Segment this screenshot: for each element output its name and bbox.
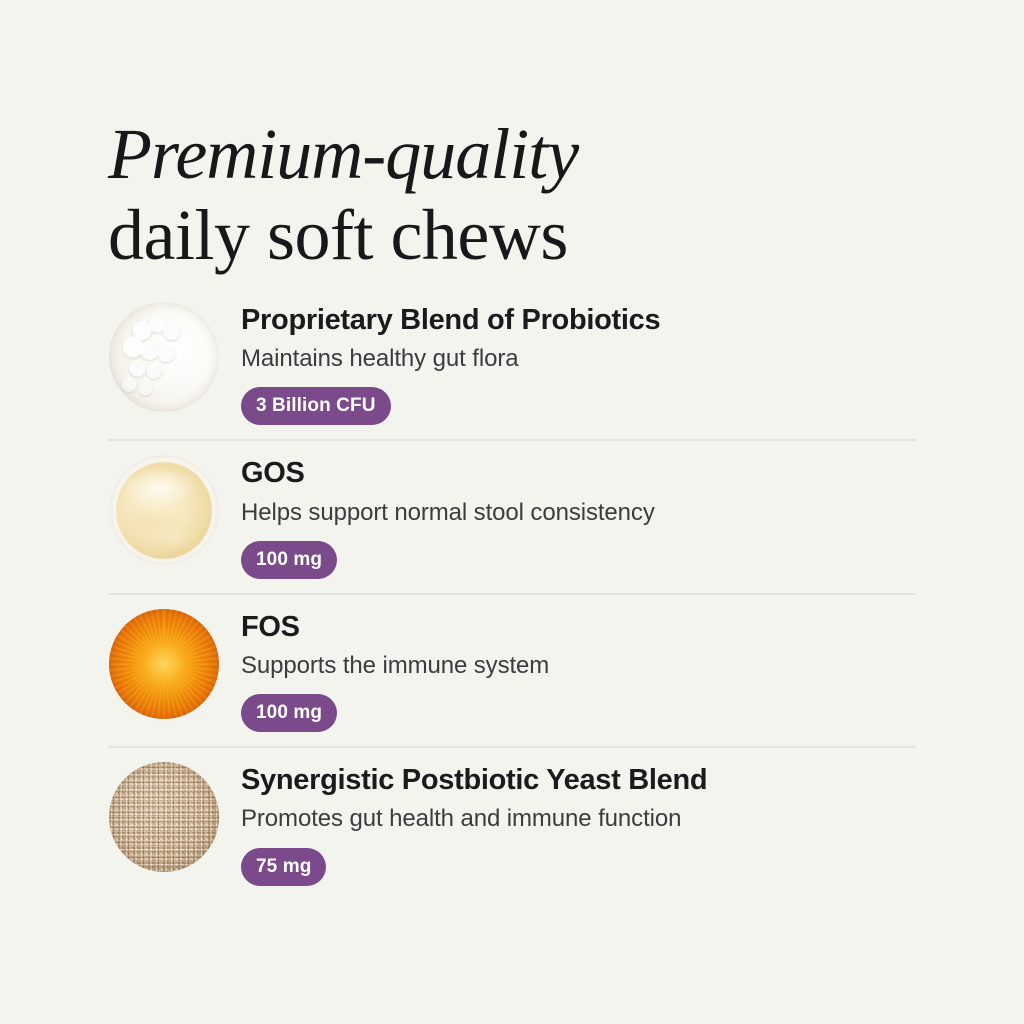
ingredient-thumbnail-wrap [108,298,220,412]
ingredient-title: Synergistic Postbiotic Yeast Blend [241,763,916,797]
list-item: Synergistic Postbiotic Yeast Blend Promo… [108,746,916,899]
ingredient-text-block: GOS Helps support normal stool consisten… [220,451,916,578]
ingredient-amount-badge: 75 mg [241,848,326,886]
list-item: GOS Helps support normal stool consisten… [108,439,916,592]
headline-line-2: daily soft chews [108,198,928,273]
ingredient-thumbnail-wrap [108,605,220,719]
ingredient-list: Proprietary Blend of Probiotics Maintain… [108,288,916,900]
product-ingredient-panel: Premium-quality daily soft chews Proprie… [0,0,1024,1024]
ingredient-title: FOS [241,610,916,644]
ingredient-amount-badge: 3 Billion CFU [241,387,391,425]
list-item: FOS Supports the immune system 100 mg [108,593,916,746]
ingredient-amount-badge: 100 mg [241,541,337,579]
ingredient-thumbnail-wrap [108,451,220,565]
ingredient-amount-badge: 100 mg [241,694,337,732]
page-headline: Premium-quality daily soft chews [108,117,928,273]
ingredient-text-block: FOS Supports the immune system 100 mg [220,605,916,732]
yeast-blend-swatch-icon [109,762,219,872]
ingredient-title: Proprietary Blend of Probiotics [241,303,916,337]
ingredient-thumbnail-wrap [108,758,220,872]
ingredient-description: Supports the immune system [241,650,916,681]
ingredient-title: GOS [241,456,916,490]
gos-swatch-icon [109,455,219,565]
list-item: Proprietary Blend of Probiotics Maintain… [108,288,916,439]
ingredient-description: Maintains healthy gut flora [241,343,916,374]
ingredient-description: Helps support normal stool consistency [241,497,916,528]
fos-swatch-icon [109,609,219,719]
ingredient-text-block: Proprietary Blend of Probiotics Maintain… [220,298,916,425]
ingredient-text-block: Synergistic Postbiotic Yeast Blend Promo… [220,758,916,885]
headline-line-1: Premium-quality [108,117,928,192]
ingredient-description: Promotes gut health and immune function [241,803,916,834]
probiotic-blend-swatch-icon [109,302,219,412]
